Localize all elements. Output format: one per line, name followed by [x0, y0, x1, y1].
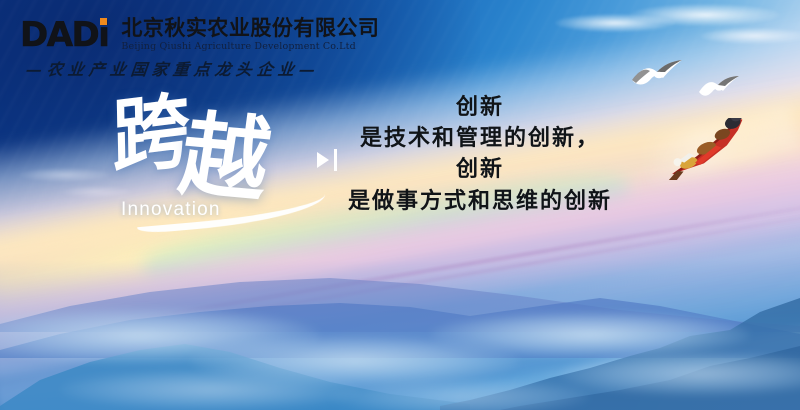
play-triangle-icon — [317, 152, 329, 168]
company-name-cn: 北京秋实农业股份有限公司 — [121, 17, 379, 39]
seagull-icon — [630, 58, 686, 90]
slogan-line-1: 创新 — [330, 92, 630, 123]
dadi-wordmark-text: DADi — [20, 15, 108, 55]
logo-dot-icon — [100, 18, 107, 25]
innovation-subtitle: Innovation — [121, 199, 221, 221]
hang-glider-icon — [655, 118, 765, 180]
calligraphy-characters: 跨越 — [112, 96, 266, 174]
mountain-range — [0, 195, 800, 410]
slogan-line-3: 创新 — [330, 154, 630, 185]
slogan-line-2: 是技术和管理的创新， — [330, 123, 630, 154]
logo-text-group: 北京秋实农业股份有限公司 Beijing Qiushi Agriculture … — [108, 17, 379, 52]
slogan-line-4: 是做事方式和思维的创新 — [330, 186, 630, 217]
calligraphy-block: 跨越 Innovation — [112, 96, 327, 221]
dadi-wordmark: DADi — [20, 19, 108, 52]
slogan-text: 创新 是技术和管理的创新， 创新 是做事方式和思维的创新 — [330, 92, 630, 217]
company-logo[interactable]: DADi 北京秋实农业股份有限公司 Beijing Qiushi Agricul… — [20, 17, 379, 80]
logo-row: DADi 北京秋实农业股份有限公司 Beijing Qiushi Agricul… — [20, 17, 379, 52]
seagull-icon — [697, 74, 741, 100]
mountain-blue-wash — [0, 260, 800, 410]
company-tagline: —农业产业国家重点龙头企业— — [25, 56, 381, 80]
promo-banner: DADi 北京秋实农业股份有限公司 Beijing Qiushi Agricul… — [0, 0, 800, 410]
company-name-en: Beijing Qiushi Agriculture Development C… — [121, 41, 379, 52]
